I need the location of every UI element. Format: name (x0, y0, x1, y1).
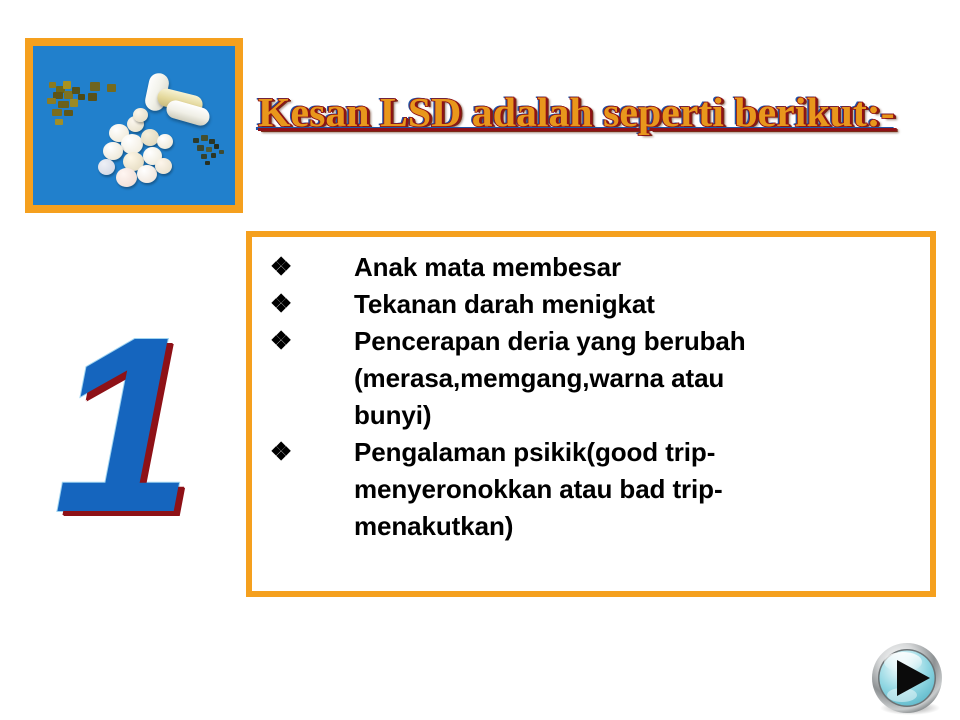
plant-matter-fleck (70, 99, 78, 107)
bullet-diamond-icon: ❖ (266, 323, 296, 360)
drug-photo-frame (25, 38, 243, 213)
granule (201, 135, 208, 141)
granule (201, 154, 207, 159)
bullet-item: ❖Tekanan darah menigkat (252, 286, 930, 323)
bullet-text-line: menakutkan) (354, 508, 930, 545)
tablet (121, 134, 143, 154)
bullet-diamond-icon: ❖ (266, 249, 296, 286)
bullet-text-line: Anak mata membesar (354, 249, 930, 286)
bullet-text-line: bunyi) (354, 397, 930, 434)
bullet-text-line: menyeronokkan atau bad trip- (354, 471, 930, 508)
plant-matter-fleck (63, 81, 71, 89)
plant-matter-fleck (78, 94, 85, 100)
plant-matter-fleck (55, 119, 63, 125)
bullet-diamond-icon: ❖ (266, 434, 296, 471)
granule (219, 150, 224, 154)
tablet (157, 134, 173, 149)
granule (214, 144, 219, 149)
bullet-item: ❖Pengalaman psikik(good trip-menyeronokk… (252, 434, 930, 545)
bullet-item: ❖Pencerapan deria yang berubah(merasa,me… (252, 323, 930, 434)
plant-matter-fleck (47, 98, 56, 104)
bullet-text-line: (merasa,memgang,warna atau (354, 360, 930, 397)
tablet (116, 168, 137, 187)
content-box: ❖Anak mata membesar❖Tekanan darah menigk… (246, 231, 936, 597)
tablet (103, 142, 123, 160)
plant-matter-fleck (49, 82, 56, 88)
plant-matter-fleck (64, 110, 73, 116)
tablet (133, 108, 148, 122)
plant-matter-fleck (107, 84, 116, 92)
granule (205, 161, 210, 165)
slide-canvas: Kesan LSD adalah seperti berikut:- 1 ❖An… (0, 0, 960, 720)
bullet-diamond-icon: ❖ (266, 286, 296, 323)
bullet-text-line: Pengalaman psikik(good trip- (354, 434, 930, 471)
granule (193, 138, 199, 143)
bullet-list: ❖Anak mata membesar❖Tekanan darah menigk… (252, 237, 930, 545)
plant-matter-fleck (88, 93, 97, 101)
drug-photo-image (33, 46, 235, 205)
tablet (137, 165, 157, 183)
play-triangle-icon[interactable] (866, 642, 950, 716)
granule (211, 153, 216, 158)
granule (197, 145, 204, 151)
slide-number-graphic: 1 (48, 300, 198, 550)
slide-title: Kesan LSD adalah seperti berikut:- (258, 86, 960, 146)
capsule (164, 98, 211, 127)
plant-matter-fleck (72, 87, 80, 94)
plant-matter-fleck (58, 101, 69, 108)
bullet-item: ❖Anak mata membesar (252, 249, 930, 286)
tablet (98, 159, 115, 175)
next-slide-button[interactable] (866, 642, 950, 716)
bullet-text-line: Tekanan darah menigkat (354, 286, 930, 323)
bullet-text-line: Pencerapan deria yang berubah (354, 323, 930, 360)
plant-matter-fleck (52, 109, 62, 116)
granule (206, 147, 212, 152)
plant-matter-fleck (90, 82, 100, 91)
tablet (155, 158, 172, 174)
